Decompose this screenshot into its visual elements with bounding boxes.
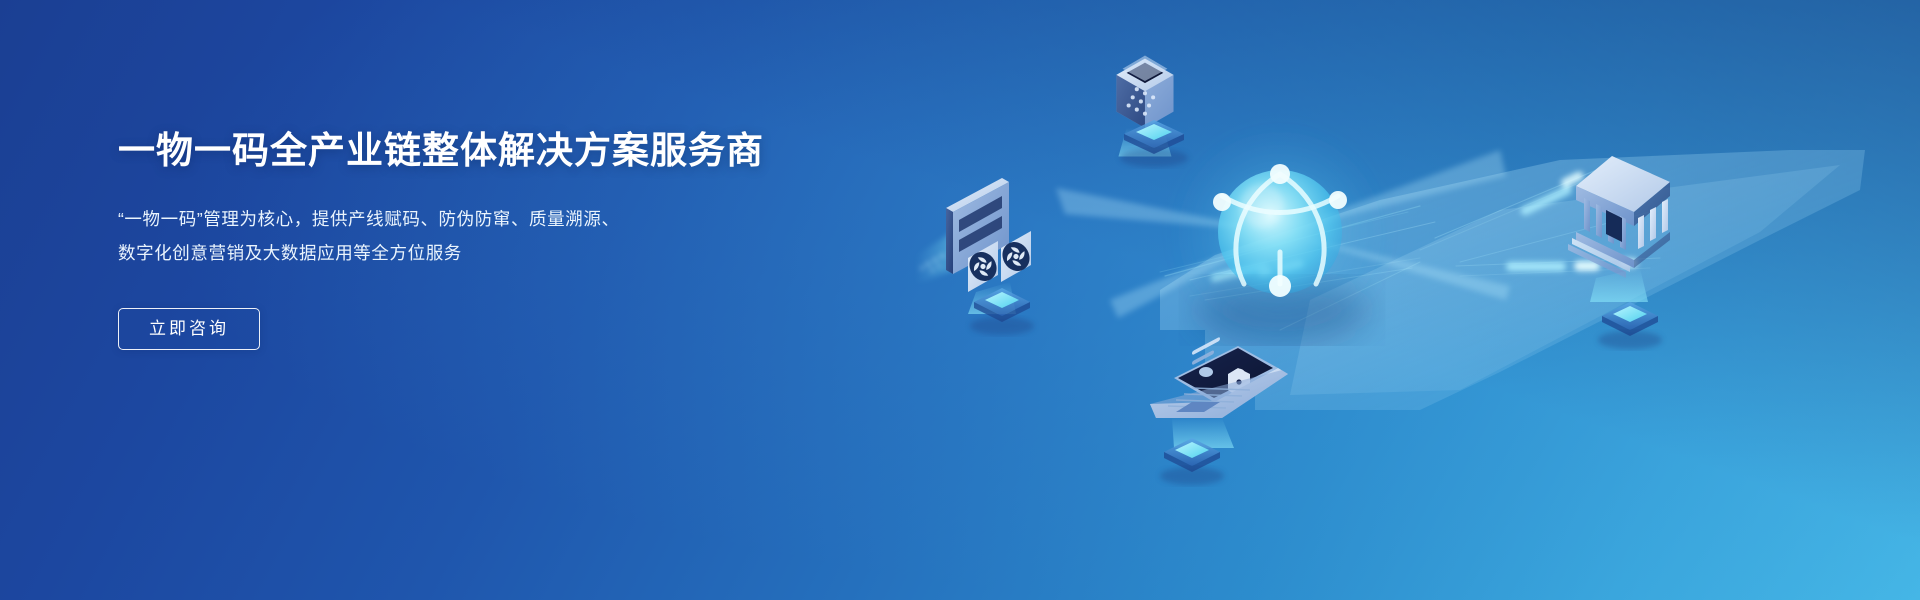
hero-copy-block: 一物一码全产业链整体解决方案服务商 “一物一码”管理为核心，提供产线赋码、防伪防…: [118, 128, 838, 350]
consult-now-button[interactable]: 立即咨询: [118, 308, 260, 350]
hero-banner: 一物一码全产业链整体解决方案服务商 “一物一码”管理为核心，提供产线赋码、防伪防…: [0, 0, 1920, 600]
hero-illustration: [860, 0, 1920, 600]
page-title: 一物一码全产业链整体解决方案服务商: [118, 128, 838, 174]
hero-subtitle-line-2: 数字化创意营销及大数据应用等全方位服务: [118, 236, 838, 270]
hero-subtitle: “一物一码”管理为核心，提供产线赋码、防伪防窜、质量溯源、 数字化创意营销及大数…: [118, 202, 838, 270]
hero-subtitle-line-1: “一物一码”管理为核心，提供产线赋码、防伪防窜、质量溯源、: [118, 202, 838, 236]
server-rack-fans-icon: [916, 178, 1035, 314]
